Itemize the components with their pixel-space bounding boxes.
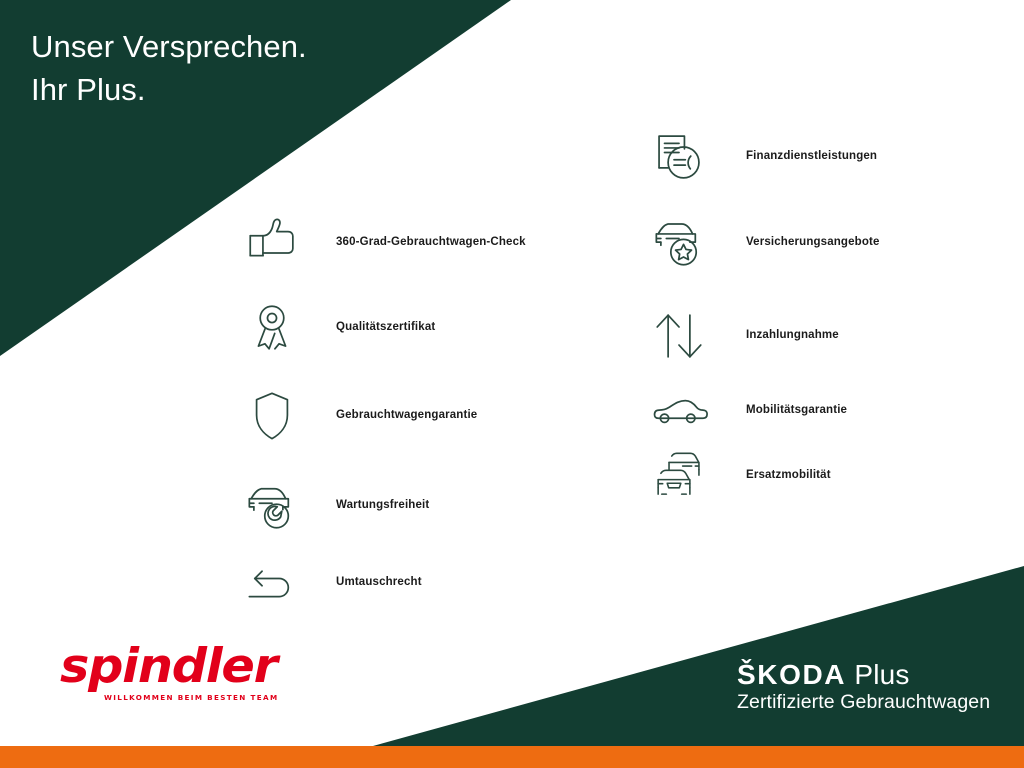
feature-label: Inzahlungnahme [746, 330, 839, 342]
orange-bar [0, 746, 1024, 768]
thumbs-up-icon [241, 212, 303, 274]
promo-banner: Unser Versprechen.Ihr Plus. 360-Grad-Geb… [0, 0, 1024, 768]
feature-label: Gebrauchtwagengarantie [336, 410, 477, 422]
return-arrow-icon [241, 552, 303, 614]
feature-label: Qualitätszertifikat [336, 322, 435, 334]
car-side-icon [648, 380, 710, 442]
skoda-wordmark: ŠKODA [737, 659, 846, 690]
feature-label: Wartungsfreiheit [336, 500, 429, 512]
feature-label: Ersatzmobilität [746, 470, 831, 482]
two-cars-icon [648, 445, 710, 507]
feature-label: Mobilitätsgarantie [746, 405, 847, 417]
page-title: Unser Versprechen.Ihr Plus. [31, 26, 307, 112]
feature-label: Umtauschrecht [336, 577, 422, 589]
feature-mobilitaetsgarantie: Mobilitätsgarantie [648, 380, 847, 442]
feature-label: 360-Grad-Gebrauchtwagen-Check [336, 237, 526, 249]
spindler-logo: spindler WILLKOMMEN BEIM BESTEN TEAM [60, 643, 310, 705]
skoda-logo-subtitle: Zertifizierte Gebrauchtwagen [737, 691, 990, 714]
headline-line-1: Unser Versprechen. [31, 29, 307, 64]
document-euro-icon [648, 126, 710, 188]
feature-qualitaetszertifikat: Qualitätszertifikat [241, 297, 435, 359]
feature-ersatzmobilitaet: Ersatzmobilität [648, 445, 831, 507]
award-rosette-icon [241, 297, 303, 359]
green-wedge-bottom-right [373, 566, 1024, 746]
skoda-plus-word: Plus [854, 659, 909, 690]
feature-360-grad-check: 360-Grad-Gebrauchtwagen-Check [241, 212, 526, 274]
skoda-logo-line-1: ŠKODA Plus [737, 660, 990, 690]
car-star-icon [648, 212, 710, 274]
feature-inzahlungnahme: Inzahlungnahme [648, 305, 839, 367]
feature-versicherungsangebote: Versicherungsangebote [648, 212, 880, 274]
car-wrench-icon [241, 475, 303, 537]
feature-umtauschrecht: Umtauschrecht [241, 552, 422, 614]
shield-icon [241, 385, 303, 447]
spindler-wordmark: spindler [60, 643, 323, 690]
spindler-tagline: WILLKOMMEN BEIM BESTEN TEAM [104, 694, 310, 701]
feature-label: Finanzdienstleistungen [746, 151, 877, 163]
skoda-plus-logo: ŠKODA Plus Zertifizierte Gebrauchtwagen [737, 660, 990, 715]
feature-label: Versicherungsangebote [746, 237, 880, 249]
up-down-arrows-icon [648, 305, 710, 367]
headline-line-2: Ihr Plus. [31, 72, 146, 107]
feature-wartungsfreiheit: Wartungsfreiheit [241, 475, 429, 537]
feature-gebrauchtwagengarantie: Gebrauchtwagengarantie [241, 385, 477, 447]
feature-finanzdienstleistungen: Finanzdienstleistungen [648, 126, 877, 188]
